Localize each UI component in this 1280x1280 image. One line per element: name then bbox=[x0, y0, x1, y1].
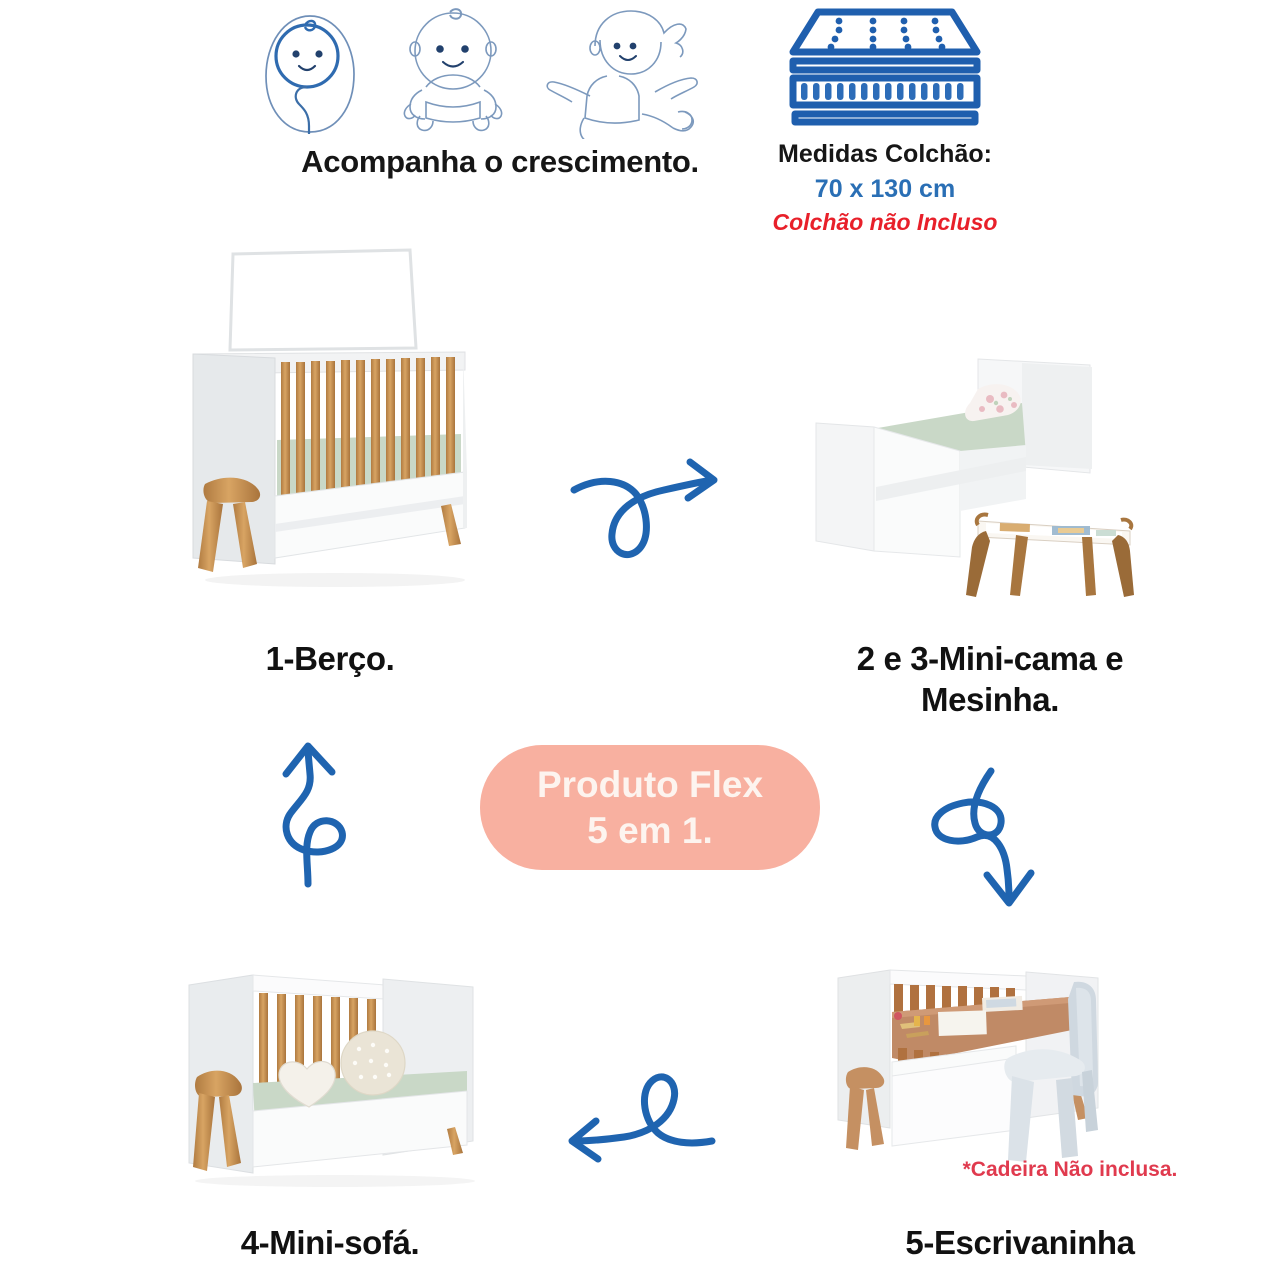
curved-loop-arrow-down-icon bbox=[925, 765, 1065, 915]
mattress-size: 70 x 130 cm bbox=[735, 171, 1035, 207]
infographic-canvas: Acompanha o crescimento. bbox=[0, 0, 1280, 1280]
label-sofa: 4-Mini-sofá. bbox=[120, 1222, 540, 1263]
growth-icons-group bbox=[250, 4, 750, 139]
curved-loop-arrow-right-icon bbox=[560, 440, 760, 580]
label-minibed-line2: Mesinha. bbox=[770, 679, 1210, 720]
flex-product-badge: Produto Flex 5 em 1. bbox=[480, 745, 820, 870]
mini-sofa-illustration bbox=[155, 945, 505, 1200]
curved-loop-arrow-up-icon bbox=[260, 740, 400, 890]
crib-illustration bbox=[165, 228, 505, 628]
side-table bbox=[966, 515, 1134, 597]
growth-caption: Acompanha o crescimento. bbox=[250, 144, 750, 180]
sitting-baby-icon bbox=[404, 9, 501, 130]
mattress-not-included-note: Colchão não Incluso bbox=[735, 207, 1035, 238]
growth-section: Acompanha o crescimento. bbox=[250, 4, 750, 204]
label-crib: 1-Berço. bbox=[150, 638, 510, 679]
label-minibed-line1: 2 e 3-Mini-cama e bbox=[770, 638, 1210, 679]
flex-badge-line2: 5 em 1. bbox=[587, 808, 712, 853]
toddler-icon bbox=[547, 11, 697, 139]
mattress-springs bbox=[801, 83, 964, 100]
mattress-icon bbox=[785, 4, 985, 129]
label-desk: 5-Escrivaninha bbox=[800, 1222, 1240, 1263]
swaddled-newborn-icon bbox=[266, 16, 354, 134]
chair-not-included-note: *Cadeira Não inclusa. bbox=[900, 1158, 1240, 1182]
mattress-title: Medidas Colchão: bbox=[735, 138, 1035, 171]
flex-badge-line1: Produto Flex bbox=[537, 762, 763, 807]
mini-bed-and-side-table-illustration bbox=[800, 345, 1150, 605]
mattress-top-dots bbox=[828, 18, 946, 51]
round-cushion bbox=[341, 1031, 405, 1095]
label-minibed: 2 e 3-Mini-cama e Mesinha. bbox=[770, 638, 1210, 721]
curved-loop-arrow-left-icon bbox=[540, 1055, 720, 1185]
mattress-section: Medidas Colchão: 70 x 130 cm Colchão não… bbox=[735, 4, 1035, 249]
